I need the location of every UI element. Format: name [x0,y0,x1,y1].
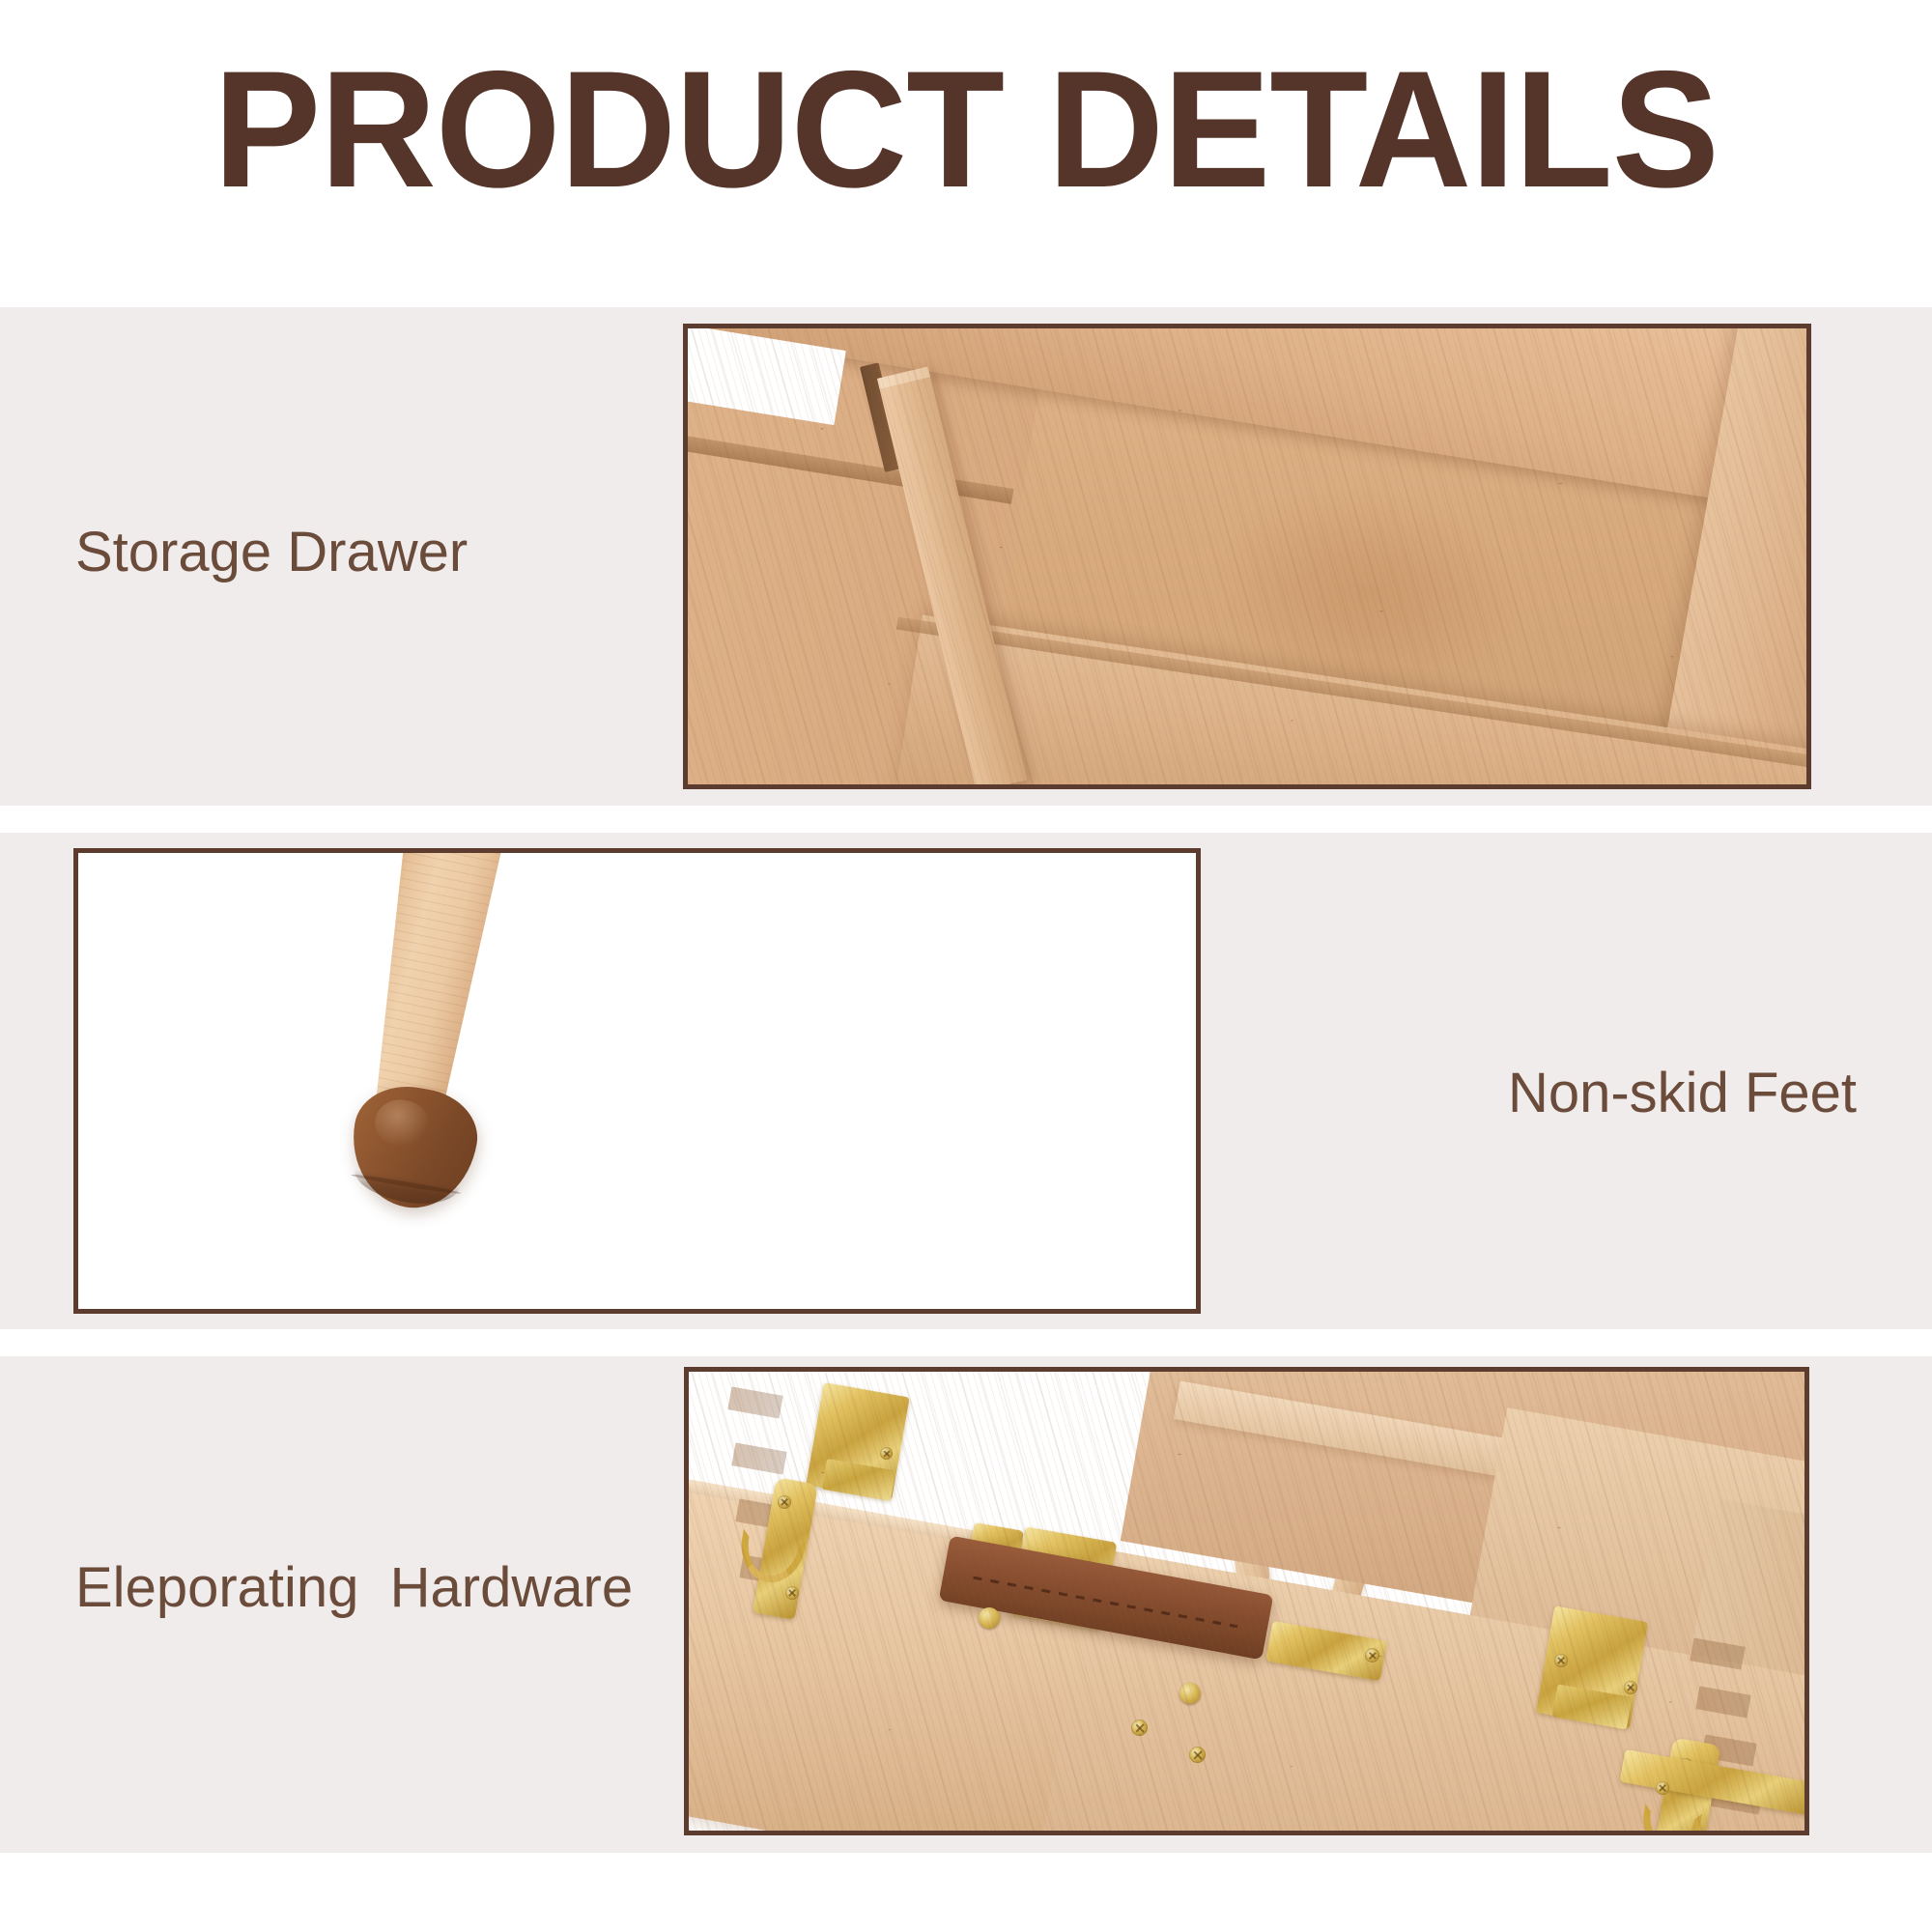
section-label-storage-drawer: Storage Drawer [75,522,468,583]
header: PRODUCT DETAILS [0,0,1932,307]
photo-non-skid-feet [73,848,1201,1314]
page-title: PRODUCT DETAILS [29,46,1903,213]
hardware-photo-content [689,1372,1804,1831]
section-label-eleporating-hardware: Eleporating Hardware [75,1557,633,1619]
drawer-photo-content [688,328,1806,784]
photo-eleporating-hardware [684,1367,1809,1835]
product-details-page: PRODUCT DETAILS Storage Drawer Non-skid … [0,0,1932,1932]
section-label-non-skid-feet: Non-skid Feet [1508,1063,1857,1124]
foot-photo-content [78,853,1196,1309]
photo-storage-drawer [683,324,1811,789]
